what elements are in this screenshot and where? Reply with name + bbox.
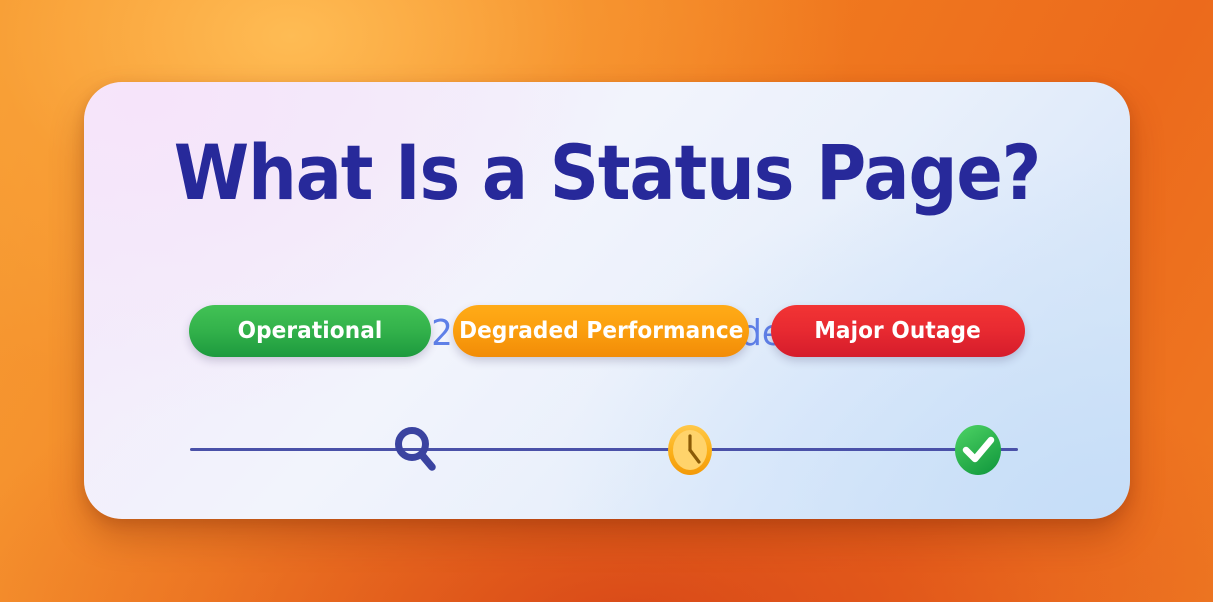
check-circle-icon — [951, 422, 1005, 478]
clock-icon — [663, 422, 717, 478]
status-badge-label: Major Outage — [815, 318, 982, 344]
status-badge-major-outage[interactable]: Major Outage — [771, 305, 1025, 357]
poster-background: What Is a Status Page? 2026 Practical Gu… — [0, 0, 1213, 602]
status-badge-label: Operational — [238, 318, 383, 344]
page-title: What Is a Status Page? — [136, 130, 1077, 216]
timeline-track — [190, 448, 1018, 451]
incident-timeline: Investigating Monitoring Resolved — [190, 398, 1018, 498]
timeline-node-investigating[interactable] — [386, 422, 446, 478]
status-badge-operational[interactable]: Operational — [189, 305, 431, 357]
magnifying-glass-icon — [387, 421, 445, 479]
status-badge-label: Degraded Performance — [459, 318, 743, 344]
timeline-node-resolved[interactable] — [948, 422, 1008, 478]
status-page-card: What Is a Status Page? 2026 Practical Gu… — [84, 82, 1130, 519]
timeline-node-monitoring[interactable] — [660, 422, 720, 478]
status-badge-degraded-performance[interactable]: Degraded Performance — [453, 305, 749, 357]
status-badge-group: Operational Degraded Performance Major O… — [84, 305, 1130, 357]
